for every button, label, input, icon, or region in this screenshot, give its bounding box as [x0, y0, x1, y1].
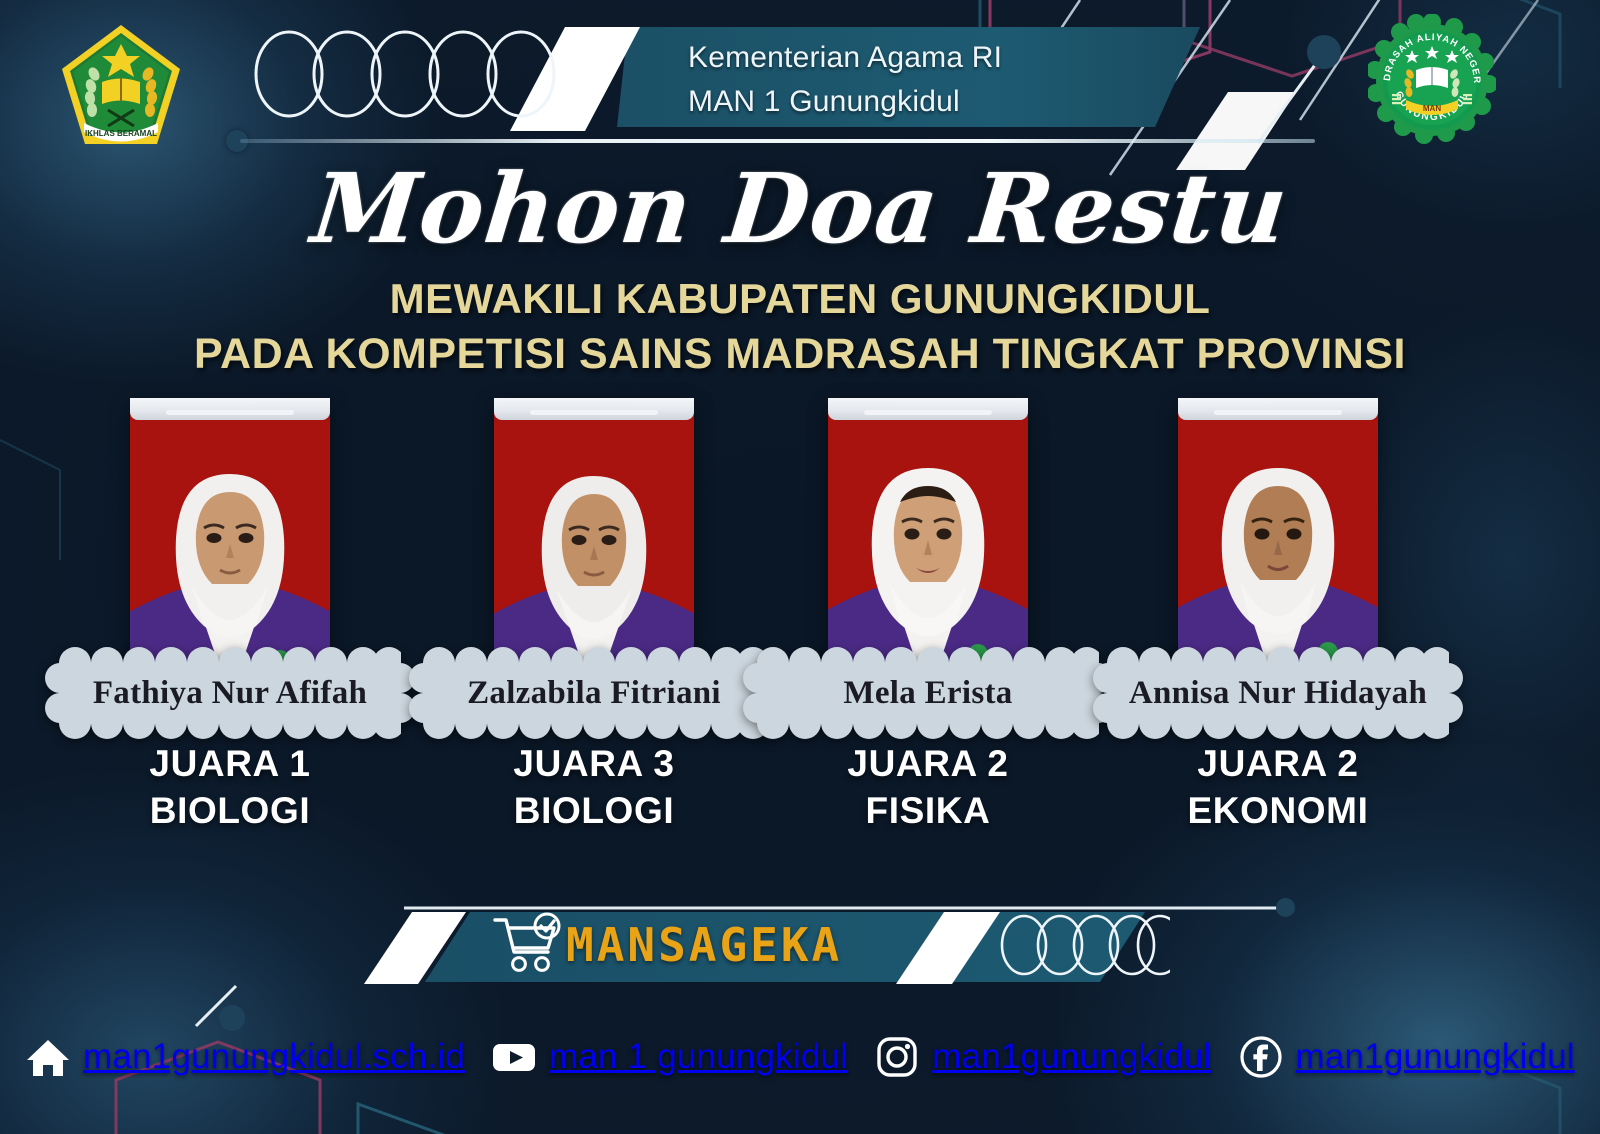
student-card: Zalzabila Fitriani JUARA 3 BIOLOGI	[414, 398, 774, 835]
student-nameplate: Annisa Nur Hidayah	[1107, 662, 1449, 724]
student-rank: JUARA 1	[50, 740, 410, 787]
subtitle-line-2: PADA KOMPETISI SAINS MADRASAH TINGKAT PR…	[0, 327, 1600, 383]
header-divider-rule	[240, 139, 1315, 143]
footer-website-link[interactable]: man1gunungkidul.sch.id	[12, 1034, 478, 1080]
student-nameplate: Fathiya Nur Afifah	[59, 662, 401, 724]
footer-website-label: man1gunungkidul.sch.id	[83, 1037, 465, 1077]
header-ministry-line: Kementerian Agama RI	[688, 36, 1228, 80]
page-title-script: Mohon Doa Restu	[0, 152, 1600, 265]
footer-instagram-link[interactable]: man1gunungkidul	[861, 1034, 1224, 1080]
brand-wordmark: MANSAGEKA	[566, 918, 842, 972]
student-achievement: JUARA 2 FISIKA	[748, 740, 1108, 835]
footer-instagram-label: man1gunungkidul	[932, 1037, 1211, 1077]
student-card: Annisa Nur Hidayah JUARA 2 EKONOMI	[1098, 398, 1458, 835]
student-subject: BIOLOGI	[50, 787, 410, 834]
student-name: Fathiya Nur Afifah	[93, 675, 367, 712]
footer-contact-bar: man1gunungkidul.sch.id man 1 gunungkidul…	[0, 1020, 1600, 1094]
page-subtitle: MEWAKILI KABUPATEN GUNUNGKIDUL PADA KOMP…	[0, 272, 1600, 382]
header-school-line: MAN 1 Gunungkidul	[688, 80, 1228, 124]
student-name: Annisa Nur Hidayah	[1129, 675, 1427, 712]
facebook-icon	[1238, 1034, 1284, 1080]
student-card: Mela Erista JUARA 2 FISIKA	[748, 398, 1108, 835]
man1-gunungkidul-logo: MADRASAH ALIYAH NEGERI 1 GUNUNGKIDUL MAN	[1368, 14, 1496, 144]
rings-decoration-top	[253, 28, 563, 120]
student-subject: EKONOMI	[1098, 787, 1458, 834]
student-name: Zalzabila Fitriani	[467, 675, 721, 712]
student-rank: JUARA 2	[1098, 740, 1458, 787]
youtube-icon	[491, 1034, 537, 1080]
students-row: Fathiya Nur Afifah JUARA 1 BIOLOGI	[0, 398, 1600, 868]
poster-canvas: IKHLAS BERAMAL	[0, 0, 1600, 1134]
student-card: Fathiya Nur Afifah JUARA 1 BIOLOGI	[50, 398, 410, 835]
shopping-cart-check-icon	[492, 912, 564, 974]
student-subject: FISIKA	[748, 787, 1108, 834]
student-subject: BIOLOGI	[414, 787, 774, 834]
footer-facebook-link[interactable]: man1gunungkidul	[1225, 1034, 1588, 1080]
footer-youtube-link[interactable]: man 1 gunungkidul	[478, 1034, 861, 1080]
header-institution-block: Kementerian Agama RI MAN 1 Gunungkidul	[688, 36, 1228, 124]
instagram-icon	[874, 1034, 920, 1080]
kemenag-logo: IKHLAS BERAMAL	[58, 22, 184, 150]
brand-bar: MANSAGEKA	[0, 888, 1600, 988]
student-achievement: JUARA 1 BIOLOGI	[50, 740, 410, 835]
student-nameplate: Zalzabila Fitriani	[423, 662, 765, 724]
subtitle-line-1: MEWAKILI KABUPATEN GUNUNGKIDUL	[390, 275, 1211, 322]
kemenag-motto: IKHLAS BERAMAL	[85, 129, 157, 138]
man-logo-banner: MAN	[1423, 104, 1441, 113]
footer-facebook-label: man1gunungkidul	[1296, 1037, 1575, 1077]
student-rank: JUARA 3	[414, 740, 774, 787]
student-achievement: JUARA 3 BIOLOGI	[414, 740, 774, 835]
brand-bar-rule-dot	[1276, 898, 1295, 917]
student-nameplate: Mela Erista	[757, 662, 1099, 724]
home-icon	[25, 1034, 71, 1080]
student-name: Mela Erista	[843, 675, 1012, 712]
student-achievement: JUARA 2 EKONOMI	[1098, 740, 1458, 835]
student-rank: JUARA 2	[748, 740, 1108, 787]
footer-youtube-label: man 1 gunungkidul	[549, 1037, 848, 1077]
